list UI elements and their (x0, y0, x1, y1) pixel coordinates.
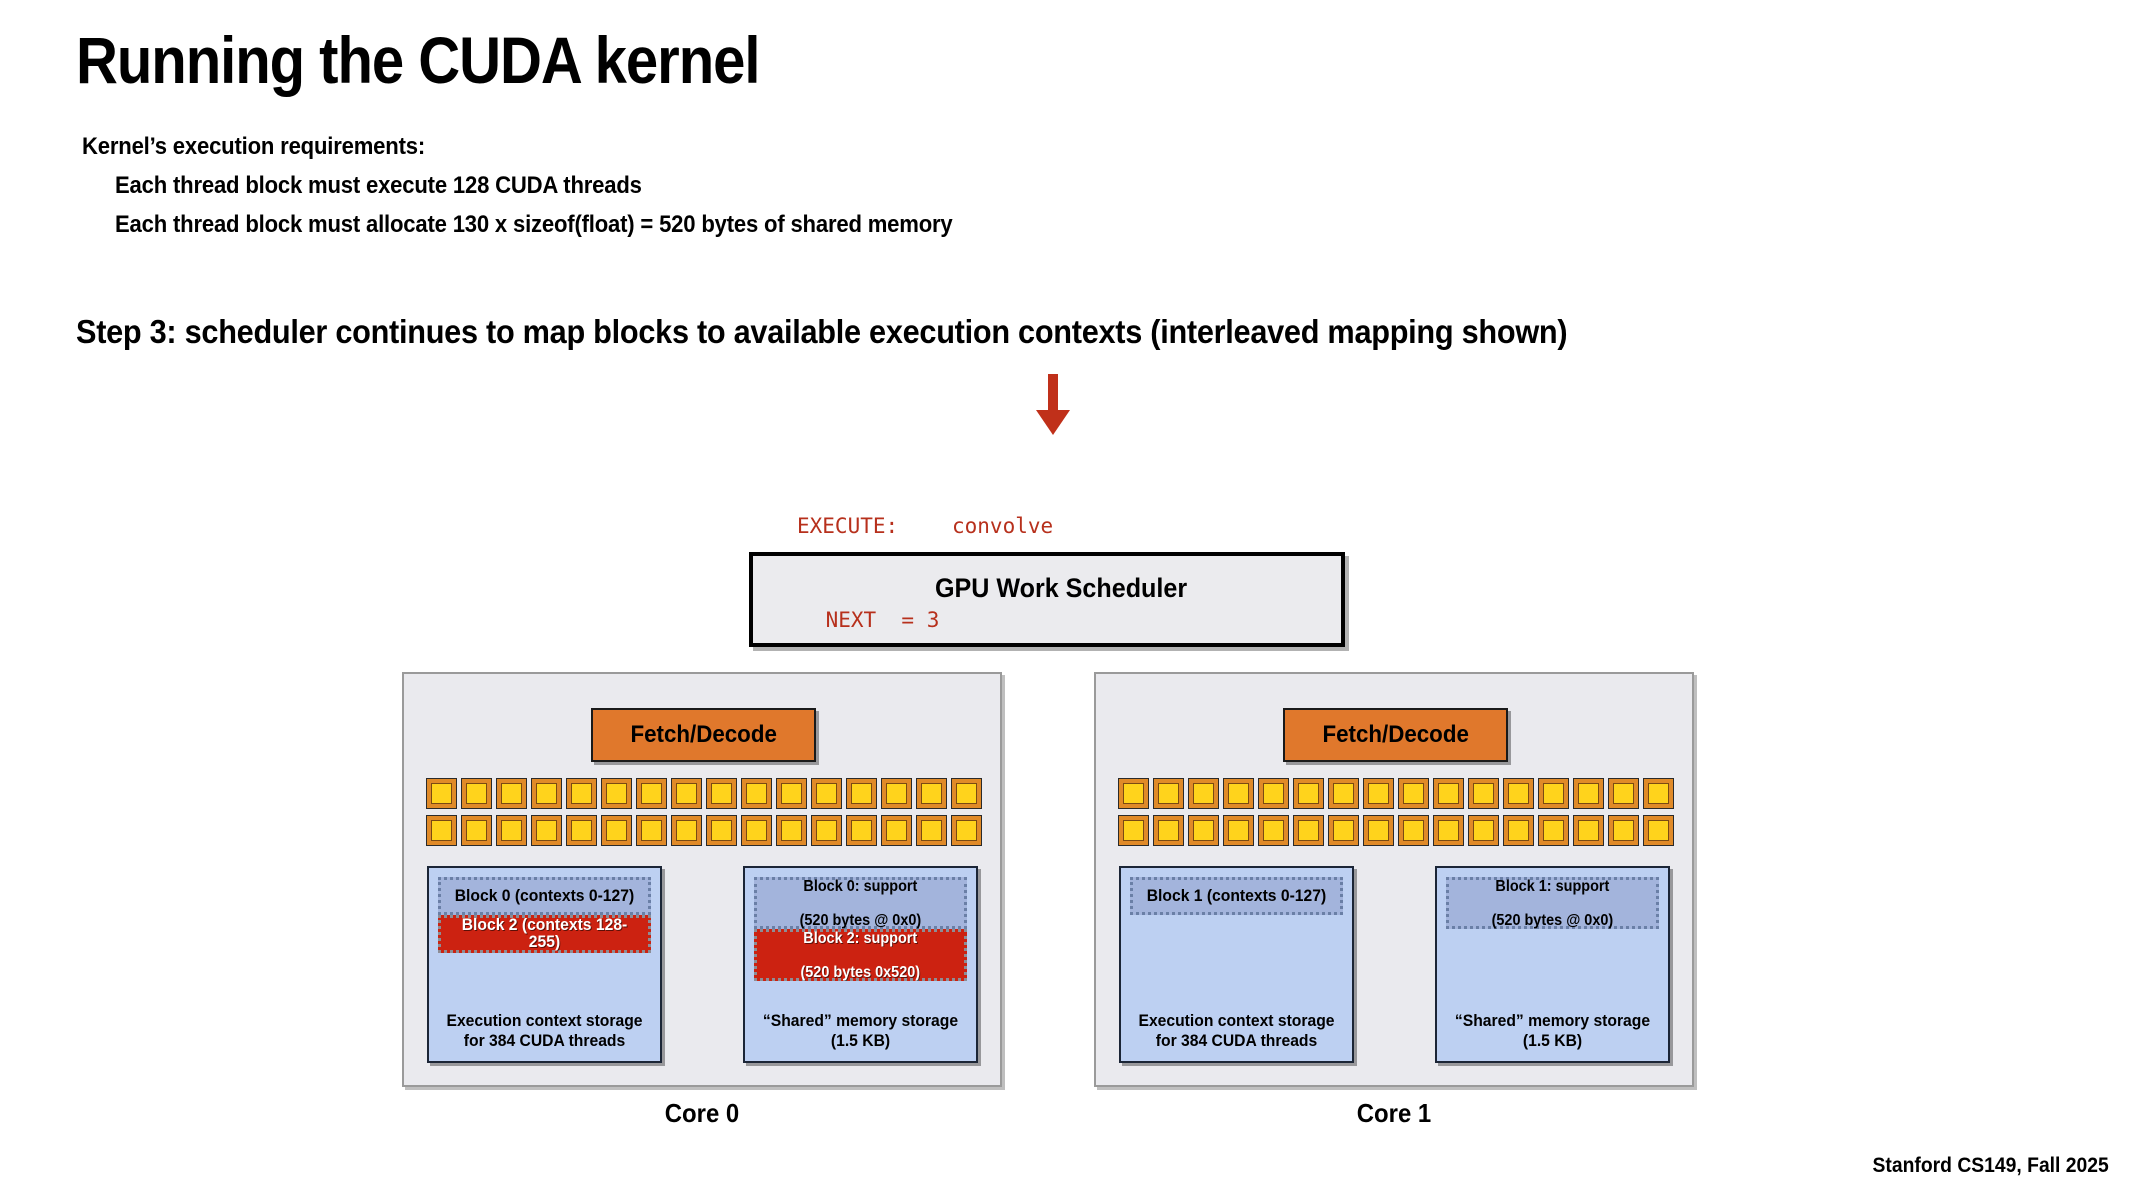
band-label: Block 1: support(520 bytes @ 0x0) (1488, 878, 1616, 929)
alu-unit (1503, 778, 1534, 809)
alu-unit (566, 815, 597, 846)
alu-unit (916, 815, 947, 846)
red-down-arrow (1032, 374, 1074, 436)
alu-unit (601, 815, 632, 846)
band-label: Block 2 (contexts 128-255) (446, 917, 643, 951)
block-occupancy-band: Block 2 (contexts 128-255) (438, 915, 651, 953)
alu-unit (426, 778, 457, 809)
alu-unit (566, 778, 597, 809)
alu-row (1118, 778, 1674, 809)
alu-unit (1643, 815, 1674, 846)
band-line-1: Block 0: support (800, 878, 922, 895)
block-occupancy-band: Block 0 (contexts 0-127) (438, 877, 651, 915)
alu-unit (1363, 815, 1394, 846)
alu-unit (426, 815, 457, 846)
alu-unit (1363, 778, 1394, 809)
command-row: EXECUTE:convolve (797, 512, 1306, 541)
alu-unit (1153, 778, 1184, 809)
alu-unit (461, 815, 492, 846)
alu-unit (1223, 778, 1254, 809)
alu-unit (846, 815, 877, 846)
alu-unit (776, 778, 807, 809)
alu-unit (916, 778, 947, 809)
alu-unit (1608, 778, 1639, 809)
band-line-1: Block 2: support (801, 930, 921, 947)
alu-unit (496, 778, 527, 809)
execution-context-storage: Block 1 (contexts 0-127) Execution conte… (1119, 866, 1354, 1063)
alu-unit (1398, 778, 1429, 809)
requirement-item-threads: Each thread block must execute 128 CUDA … (115, 172, 642, 200)
alu-row (426, 778, 982, 809)
alu-unit (1538, 778, 1569, 809)
band-line-2: (520 bytes @ 0x0) (800, 912, 922, 929)
alu-unit (881, 815, 912, 846)
alu-unit (671, 815, 702, 846)
slide-footer: Stanford CS149, Fall 2025 (1873, 1154, 2109, 1178)
alu-unit (1608, 815, 1639, 846)
band-label: Block 1 (contexts 0-127) (1147, 888, 1326, 905)
requirements-heading: Kernel’s execution requirements: (82, 133, 425, 161)
band-line-1: Block 1: support (1492, 878, 1614, 895)
gpu-work-scheduler: NEXT = 3 TOTAL = 1000 GPU Work Scheduler (749, 552, 1345, 647)
scheduler-title: GPU Work Scheduler (935, 573, 1187, 604)
storage-caption: “Shared” memory storage (1.5 KB) (1443, 1011, 1662, 1051)
alu-unit (1573, 778, 1604, 809)
alu-unit (1538, 815, 1569, 846)
alu-unit (1398, 815, 1429, 846)
core-label-0: Core 0 (426, 1098, 978, 1129)
alu-unit (1433, 778, 1464, 809)
alu-unit (1468, 815, 1499, 846)
block-support-band: Block 1: support(520 bytes @ 0x0) (1446, 877, 1659, 929)
alu-unit (1223, 815, 1254, 846)
alu-unit (741, 815, 772, 846)
band-label: Block 2: support(520 bytes 0x520) (798, 930, 924, 981)
alu-unit (461, 778, 492, 809)
storage-caption: “Shared” memory storage (1.5 KB) (751, 1011, 970, 1051)
core-panel-1: Fetch/Decode Block 1 (contexts 0-127) Ex… (1094, 672, 1694, 1087)
block-support-band: Block 2: support(520 bytes 0x520) (754, 929, 967, 981)
core-panel-0: Fetch/Decode Block 0 (contexts 0-127) Bl… (402, 672, 1002, 1087)
alu-unit (1573, 815, 1604, 846)
alu-unit (1258, 778, 1289, 809)
alu-unit (1328, 778, 1359, 809)
alu-unit (1153, 815, 1184, 846)
alu-unit (1503, 815, 1534, 846)
alu-unit (1188, 778, 1219, 809)
block-occupancy-band: Block 1 (contexts 0-127) (1130, 877, 1343, 915)
alu-unit (811, 815, 842, 846)
fetch-decode-label: Fetch/Decode (630, 721, 776, 749)
alu-unit (1118, 778, 1149, 809)
shared-memory-storage: Block 1: support(520 bytes @ 0x0) “Share… (1435, 866, 1670, 1063)
alu-unit (706, 815, 737, 846)
alu-unit (741, 778, 772, 809)
alu-unit (1328, 815, 1359, 846)
page-title: Running the CUDA kernel (76, 22, 759, 98)
fetch-decode-unit: Fetch/Decode (591, 708, 816, 762)
core-label-1: Core 1 (1118, 1098, 1670, 1129)
step-description: Step 3: scheduler continues to map block… (76, 313, 1567, 351)
alu-unit (1433, 815, 1464, 846)
alu-row (426, 815, 982, 846)
alu-unit (706, 778, 737, 809)
alu-unit (496, 815, 527, 846)
alu-unit (601, 778, 632, 809)
fetch-decode-label: Fetch/Decode (1322, 721, 1468, 749)
shared-memory-storage: Block 0: support(520 bytes @ 0x0) Block … (743, 866, 978, 1063)
alu-unit (881, 778, 912, 809)
alu-unit (951, 778, 982, 809)
alu-unit (1118, 815, 1149, 846)
alu-unit (1188, 815, 1219, 846)
alu-unit (846, 778, 877, 809)
storage-caption: Execution context storage for 384 CUDA t… (1127, 1011, 1346, 1051)
alu-grid (426, 778, 982, 846)
alu-unit (636, 778, 667, 809)
alu-grid (1118, 778, 1674, 846)
band-line-2: (520 bytes @ 0x0) (1492, 912, 1614, 929)
alu-unit (776, 815, 807, 846)
alu-unit (531, 815, 562, 846)
fetch-decode-unit: Fetch/Decode (1283, 708, 1508, 762)
block-support-band: Block 0: support(520 bytes @ 0x0) (754, 877, 967, 929)
alu-unit (1468, 778, 1499, 809)
alu-unit (636, 815, 667, 846)
scheduler-next-counter: NEXT = 3 (826, 608, 940, 632)
alu-unit (1293, 815, 1324, 846)
alu-unit (1293, 778, 1324, 809)
alu-unit (1258, 815, 1289, 846)
command-value: convolve (952, 514, 1053, 538)
band-line-2: (520 bytes 0x520) (801, 964, 921, 981)
alu-unit (1643, 778, 1674, 809)
storage-caption: Execution context storage for 384 CUDA t… (435, 1011, 654, 1051)
command-key: EXECUTE: (797, 512, 952, 541)
execution-context-storage: Block 0 (contexts 0-127) Block 2 (contex… (427, 866, 662, 1063)
band-label: Block 0: support(520 bytes @ 0x0) (796, 878, 924, 929)
requirement-item-shared-memory: Each thread block must allocate 130 x si… (115, 211, 953, 239)
alu-unit (531, 778, 562, 809)
alu-unit (671, 778, 702, 809)
band-label: Block 0 (contexts 0-127) (455, 888, 634, 905)
alu-row (1118, 815, 1674, 846)
alu-unit (951, 815, 982, 846)
alu-unit (811, 778, 842, 809)
